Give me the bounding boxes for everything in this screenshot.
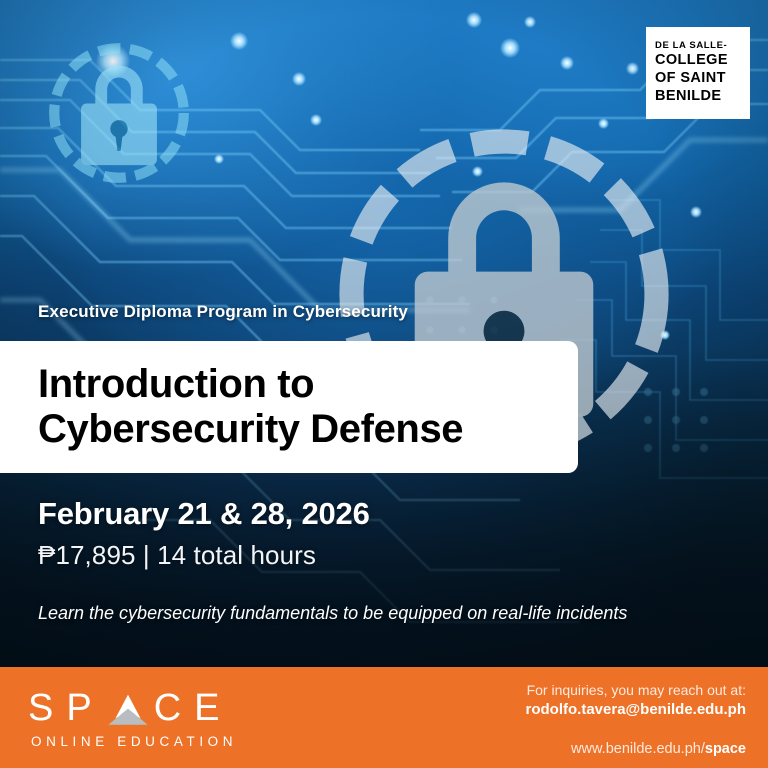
logo-line-benilde: BENILDE — [655, 88, 741, 106]
space-letter-p: P — [66, 687, 104, 730]
website-prefix: www.benilde.edu.ph/ — [571, 741, 705, 757]
logo-line-college: COLLEGE — [655, 52, 741, 70]
promo-poster: DE LA SALLE- COLLEGE OF SAINT BENILDE Ex… — [0, 0, 768, 768]
space-letter-c: C — [154, 687, 194, 730]
website-url[interactable]: www.benilde.edu.ph/space — [526, 739, 746, 759]
contact-email[interactable]: rodolfo.tavera@benilde.edu.ph — [526, 700, 746, 721]
course-title-line-2: Cybersecurity Defense — [38, 407, 578, 452]
padlock-icon-small — [40, 34, 198, 192]
course-date: February 21 & 28, 2026 — [38, 496, 370, 532]
program-eyebrow: Executive Diploma Program in Cybersecuri… — [38, 302, 408, 322]
course-title-band: Introduction to Cybersecurity Defense — [0, 341, 578, 473]
course-tagline: Learn the cybersecurity fundamentals to … — [38, 603, 627, 624]
space-wordmark: S P C E — [28, 687, 237, 729]
website-suffix: space — [705, 741, 746, 757]
space-online-education-logo: S P C E ONLINE EDUCATION — [28, 687, 237, 749]
inquiries-label: For inquiries, you may reach out at: — [526, 681, 746, 700]
space-letter-s: S — [28, 687, 66, 730]
space-logo-subtitle: ONLINE EDUCATION — [28, 734, 237, 749]
course-title-line-1: Introduction to — [38, 362, 578, 407]
space-letter-e: E — [194, 687, 232, 730]
mountain-peak-icon — [107, 693, 149, 727]
footer-contact-block: For inquiries, you may reach out at: rod… — [526, 681, 746, 759]
logo-line-de-la-salle: DE LA SALLE- — [655, 40, 741, 52]
dlscsb-logo: DE LA SALLE- COLLEGE OF SAINT BENILDE — [646, 27, 750, 119]
footer-bar: S P C E ONLINE EDUCATION For inquiries, … — [0, 667, 768, 768]
course-price-hours: ₱17,895 | 14 total hours — [38, 540, 316, 571]
logo-line-of-saint: OF SAINT — [655, 70, 741, 88]
